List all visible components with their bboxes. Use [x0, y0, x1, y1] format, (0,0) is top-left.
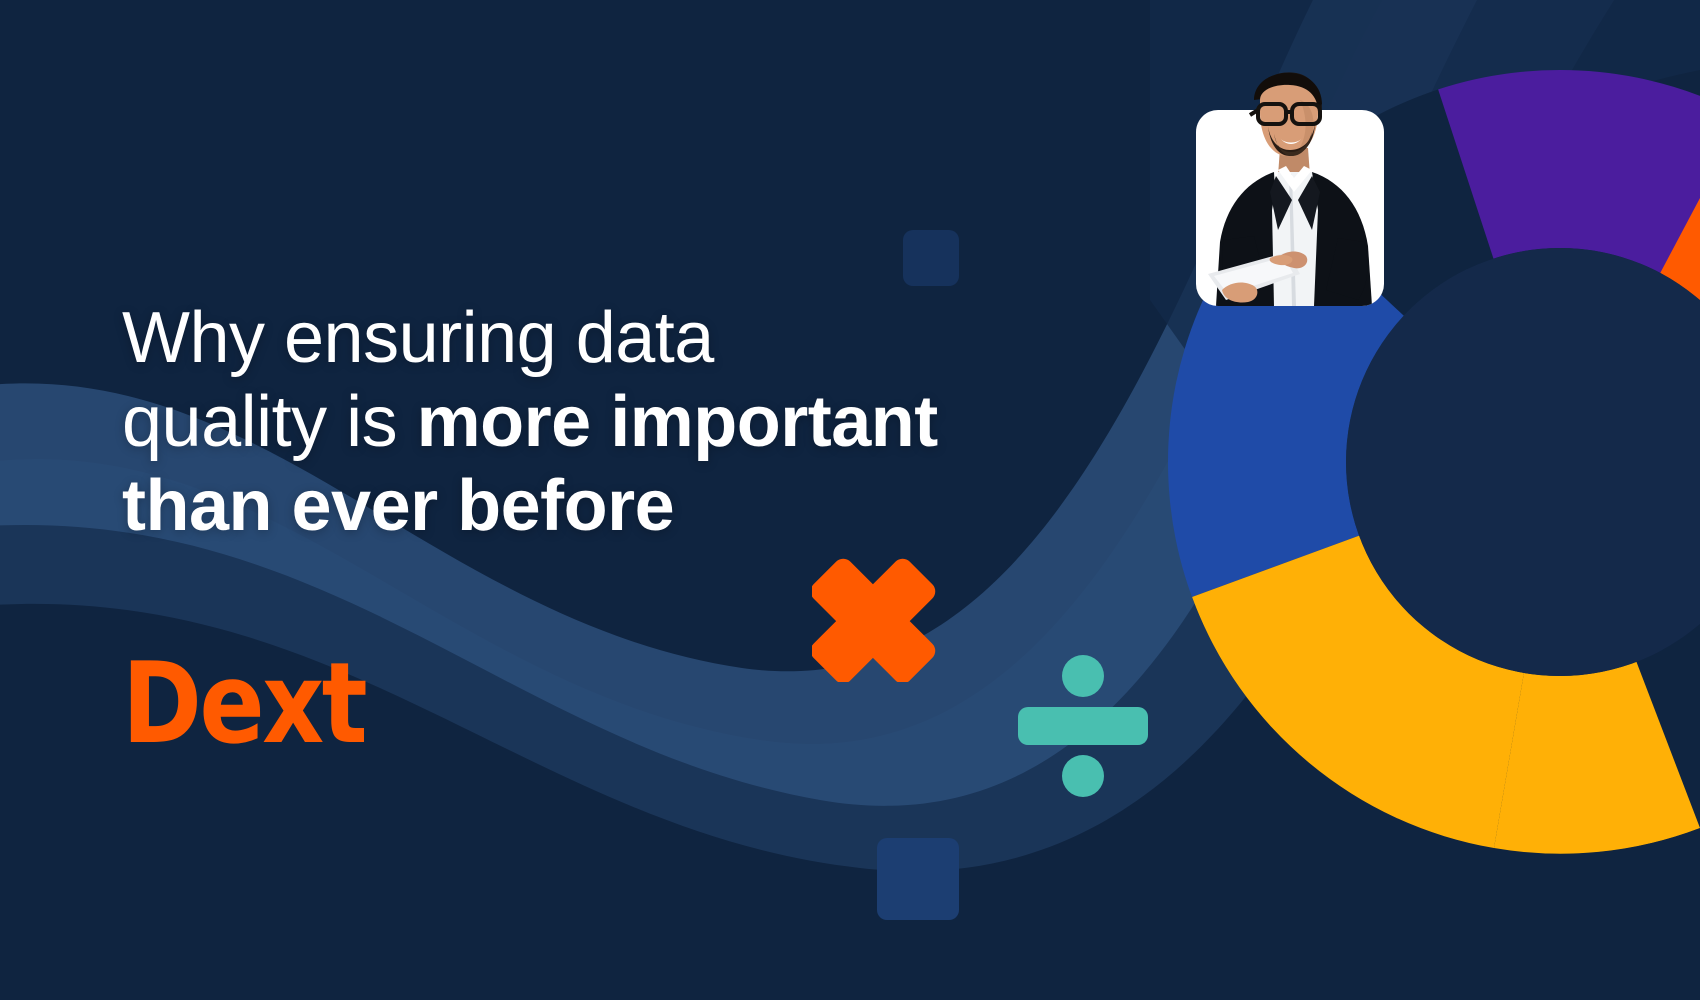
headline-line-3: than ever before — [122, 464, 1002, 548]
headline-line-2: quality is more important — [122, 380, 1002, 464]
multiply-icon — [812, 546, 948, 682]
person-photo — [1196, 60, 1384, 306]
divide-bar — [1018, 707, 1148, 745]
headline-line-2-regular: quality is — [122, 382, 417, 462]
photo-container — [1196, 60, 1384, 306]
decor-square-top — [903, 230, 959, 286]
headline-line-1: Why ensuring data — [122, 296, 1002, 380]
divide-dot-bottom — [1062, 755, 1104, 797]
divide-icon — [1018, 655, 1148, 797]
decor-square-bottom — [877, 838, 959, 920]
page-title: Why ensuring data quality is more import… — [122, 296, 1002, 548]
dext-logo: Dext — [122, 648, 365, 760]
marketing-banner: Why ensuring data quality is more import… — [0, 0, 1700, 1000]
divide-dot-top — [1062, 655, 1104, 697]
headline-line-2-bold: more important — [417, 382, 938, 462]
